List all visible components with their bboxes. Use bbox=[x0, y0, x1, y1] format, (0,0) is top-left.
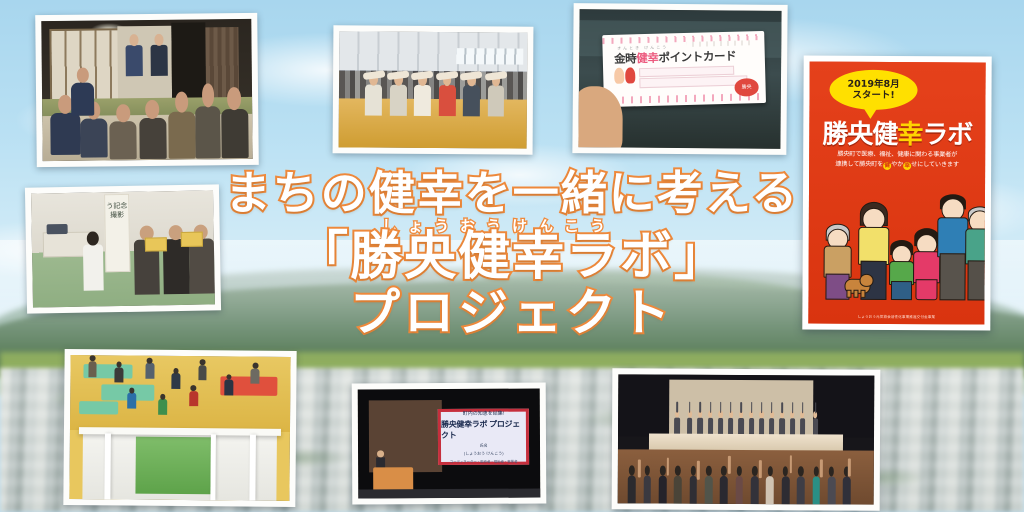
poster-bubble-line1: 2019年8月 bbox=[848, 79, 900, 90]
poster-start-bubble: 2019年8月 スタート! bbox=[829, 70, 917, 110]
poster-lead-line2: 連携して勝央町を健やか幸せにしていきます bbox=[815, 160, 979, 171]
poster-title-part2: ラボ bbox=[922, 120, 972, 150]
campaign-banner: う記念撮影 きんとき けんこう 金時健幸ポイントカード bbox=[0, 0, 1024, 512]
health-expo-aerial-image bbox=[69, 355, 290, 501]
slide-line-5: コーディネーター・医療者・福祉者・事業者 bbox=[450, 459, 518, 464]
slide-line-4: (しょうおう けんこう) bbox=[464, 451, 504, 457]
figure-boy bbox=[888, 240, 914, 298]
point-card-mascot-icon bbox=[615, 68, 636, 84]
health-expo-aerial-photo bbox=[63, 349, 296, 507]
projected-slide: 町内の知恵を結集! 勝央健幸ラボ プロジェクト 氏名 (しょうおう けんこう) … bbox=[438, 408, 529, 465]
slide-line-1: 町内の知恵を結集! bbox=[463, 410, 504, 417]
health-fair-booth-photo: う記念撮影 bbox=[25, 184, 221, 313]
hall-audience-photo bbox=[612, 368, 881, 510]
gymnasium-scene bbox=[339, 31, 528, 148]
hall-audience-image bbox=[618, 374, 875, 504]
figure-dog bbox=[844, 272, 870, 298]
poster-lead-text: 勝央町で医療、福祉、健康に関わる事業者が 連携して勝央町を健やか幸せにしていきま… bbox=[815, 150, 979, 171]
poster-badge-ken: 健 bbox=[883, 162, 891, 170]
health-fair-scene: う記念撮影 bbox=[31, 190, 215, 307]
fair-banner-sign: う記念撮影 bbox=[104, 194, 131, 272]
point-card-image: きんとき けんこう 金時健幸ポイントカード 勝央 bbox=[578, 9, 781, 149]
hall-stage-scene bbox=[618, 374, 875, 504]
slide-line-2: 勝央健幸ラボ プロジェクト bbox=[441, 419, 526, 441]
poster-bubble-line2: スタート! bbox=[852, 90, 894, 101]
kintoki-point-card: きんとき けんこう 金時健幸ポイントカード 勝央 bbox=[602, 31, 765, 107]
community-meeting-image bbox=[41, 19, 252, 161]
poster-footer-text: しょうおう元気協会活性化事業推進交付金事業 bbox=[808, 315, 984, 321]
point-card-photo: きんとき けんこう 金時健幸ポイントカード 勝央 bbox=[572, 3, 787, 155]
poster-title-part1: 勝央健 bbox=[822, 120, 897, 150]
lecture-slide-image: 町内の知恵を結集! 勝央健幸ラボ プロジェクト 氏名 (しょうおう けんこう) … bbox=[358, 389, 541, 499]
point-card-title: 金時健幸ポイントカード bbox=[614, 47, 753, 67]
fair-banner-text: う記念撮影 bbox=[105, 202, 129, 220]
slide-line-3: 氏名 bbox=[480, 443, 488, 449]
poster-family-illustration bbox=[808, 180, 985, 299]
point-card-scene: きんとき けんこう 金時健幸ポイントカード 勝央 bbox=[578, 9, 781, 149]
expo-hall-scene bbox=[69, 355, 290, 501]
poster-badge-kou: 幸 bbox=[903, 162, 911, 170]
shoo-kenko-lab-poster: 2019年8月 スタート! 勝央健幸ラボ 勝央町で医療、福祉、健康に関わる事業者… bbox=[802, 56, 991, 331]
health-fair-booth-image: う記念撮影 bbox=[31, 190, 215, 307]
poster-title: 勝央健幸ラボ bbox=[809, 114, 985, 152]
poster-title-highlight: 幸 bbox=[897, 120, 922, 150]
tatami-room-scene bbox=[41, 19, 252, 161]
point-card-birth-field bbox=[639, 76, 748, 88]
lecture-slide-photo: 町内の知恵を結集! 勝央健幸ラボ プロジェクト 氏名 (しょうおう けんこう) … bbox=[352, 382, 547, 504]
gymnasium-exercise-image bbox=[339, 31, 528, 148]
point-card-header-line bbox=[687, 41, 755, 47]
lecture-hall-scene: 町内の知恵を結集! 勝央健幸ラボ プロジェクト 氏名 (しょうおう けんこう) … bbox=[358, 389, 541, 499]
gymnasium-exercise-photo bbox=[333, 25, 534, 154]
figure-grandfather bbox=[964, 206, 985, 298]
community-meeting-photo bbox=[35, 13, 259, 167]
poster-body: 2019年8月 スタート! 勝央健幸ラボ 勝央町で医療、福祉、健康に関わる事業者… bbox=[808, 62, 985, 325]
